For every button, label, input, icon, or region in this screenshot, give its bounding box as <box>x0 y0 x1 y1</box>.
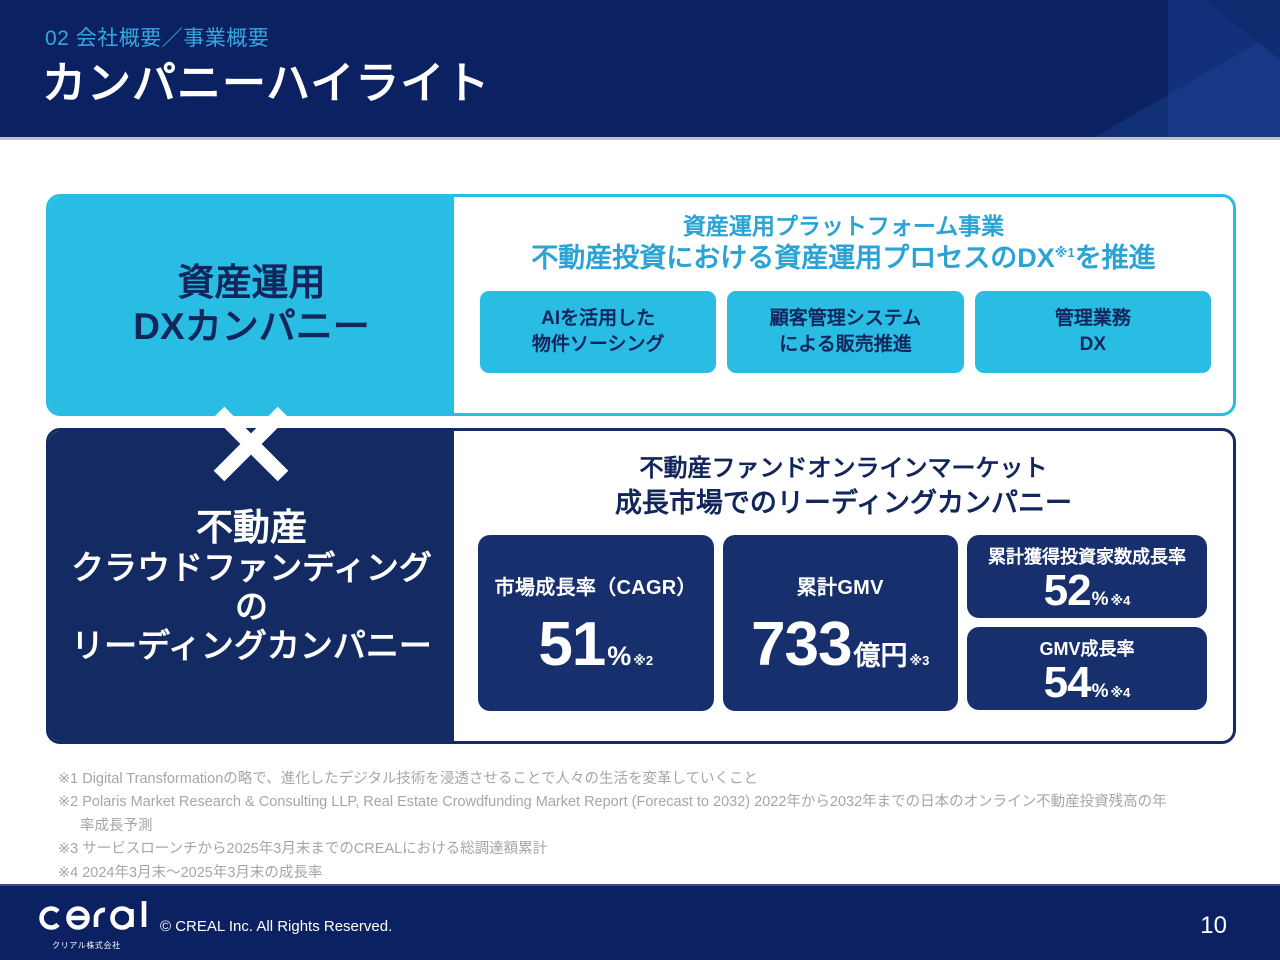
stat-3-value: 52 <box>1044 569 1091 613</box>
creal-logo-subtext: クリアル株式会社 <box>52 940 121 951</box>
crowdfunding-card: 不動産 クラウドファンディング の リーディングカンパニー 不動産ファンドオンラ… <box>46 428 1236 744</box>
footnote-ref-1: ※1 <box>1055 245 1075 260</box>
navy-left-line2: クラウドファンディング <box>71 549 432 588</box>
footer-divider <box>0 884 1280 886</box>
feature-box-management-dx: 管理業務 DX <box>975 291 1211 373</box>
cyan-heading-line2-main: 不動産投資における資産運用プロセスのDX <box>531 243 1055 273</box>
kpi-stat-group: 市場成長率（CAGR） 51 % ※2 累計GMV 733 億円 ※3 累計獲得… <box>454 521 1233 711</box>
stat-2-value: 733 <box>751 614 851 676</box>
section-eyebrow: 02 会社概要／事業概要 <box>45 22 269 52</box>
stat-4-value-row: 54 % ※4 <box>1044 661 1131 705</box>
page-title: カンパニーハイライト <box>42 62 490 106</box>
stat-4-unit: % <box>1092 681 1109 703</box>
cyan-heading-line2: 不動産投資における資産運用プロセスのDX※1を推進 <box>454 241 1233 277</box>
stat-2-unit: 億円 <box>854 634 908 673</box>
navy-left-line4: リーディングカンパニー <box>71 627 432 666</box>
stat-investor-growth-rate: 累計獲得投資家数成長率 52 % ※4 <box>967 535 1207 618</box>
footnote-ref-3: ※3 <box>910 653 930 669</box>
asset-management-panel-label: 資産運用 DXカンパニー <box>49 197 454 413</box>
footnote-ref-4b: ※4 <box>1110 685 1130 701</box>
cyan-left-line2: DXカンパニー <box>133 305 369 349</box>
navy-left-line3: の <box>71 588 432 627</box>
feature-box-crm-sales: 顧客管理システム による販売推進 <box>727 291 963 373</box>
stat-1-value-row: 51 % ※2 <box>538 614 653 676</box>
stat-2-value-row: 733 億円 ※3 <box>751 614 929 676</box>
feature-box-2-line1: 顧客管理システム <box>770 306 921 332</box>
cyan-heading-line1: 資産運用プラットフォーム事業 <box>454 211 1233 241</box>
navy-heading-line1: 不動産ファンドオンラインマーケット <box>454 453 1233 485</box>
feature-box-2-line2: による販売推進 <box>770 332 921 358</box>
stat-4-label: GMV成長率 <box>1039 635 1134 661</box>
navy-heading-line2: 成長市場でのリーディングカンパニー <box>454 485 1233 521</box>
footnote-item-3: ※3 サービスローンチから2025年3月末までのCREALにおける総調達額累計 <box>58 838 1238 861</box>
copyright-text: © CREAL Inc. All Rights Reserved. <box>160 918 392 935</box>
asset-management-card: 資産運用 DXカンパニー 資産運用プラットフォーム事業 不動産投資における資産運… <box>46 194 1236 416</box>
feature-box-ai-sourcing: AIを活用した 物件ソーシング <box>480 291 716 373</box>
footnote-item-2-cont: 率成長予測 <box>58 815 1238 838</box>
footnote-list: ※1 Digital Transformationの略で、進化したデジタル技術を… <box>58 768 1238 885</box>
header-decoration-shape <box>1000 0 1280 137</box>
navy-left-line1: 不動産 <box>71 506 432 550</box>
feature-box-3-line2: DX <box>1055 332 1131 358</box>
stat-4-value: 54 <box>1044 661 1091 705</box>
page-number: 10 <box>1200 912 1227 940</box>
stat-column-growth-rates: 累計獲得投資家数成長率 52 % ※4 GMV成長率 54 % ※4 <box>967 535 1207 711</box>
stat-1-value: 51 <box>538 614 605 676</box>
stat-2-label: 累計GMV <box>797 571 884 600</box>
header-divider <box>0 137 1280 140</box>
feature-box-1-line2: 物件ソーシング <box>532 332 665 358</box>
footnote-ref-4a: ※4 <box>1110 593 1130 609</box>
stat-market-growth-cagr: 市場成長率（CAGR） 51 % ※2 <box>478 535 714 711</box>
stat-1-unit: % <box>607 641 631 672</box>
asset-management-feature-list: AIを活用した 物件ソーシング 顧客管理システム による販売推進 管理業務 DX <box>454 277 1233 373</box>
feature-box-1-line1: AIを活用した <box>532 306 665 332</box>
crowdfunding-panel-content: 不動産ファンドオンラインマーケット 成長市場でのリーディングカンパニー 市場成長… <box>454 431 1233 741</box>
stat-gmv-growth-rate: GMV成長率 54 % ※4 <box>967 627 1207 710</box>
slide-header: 02 会社概要／事業概要 カンパニーハイライト <box>0 0 1280 137</box>
stat-3-value-row: 52 % ※4 <box>1044 569 1131 613</box>
creal-logo <box>34 896 154 943</box>
stat-3-label: 累計獲得投資家数成長率 <box>988 543 1186 569</box>
cyan-heading-line2-tail: を推進 <box>1075 243 1156 273</box>
feature-box-3-line1: 管理業務 <box>1055 306 1131 332</box>
stat-1-label: 市場成長率（CAGR） <box>495 571 697 600</box>
cyan-left-line1: 資産運用 <box>133 261 369 305</box>
asset-management-panel-content: 資産運用プラットフォーム事業 不動産投資における資産運用プロセスのDX※1を推進… <box>454 197 1233 413</box>
footnote-item-4: ※4 2024年3月末〜2025年3月末の成長率 <box>58 862 1238 885</box>
slide-footer: クリアル株式会社 © CREAL Inc. All Rights Reserve… <box>0 884 1280 960</box>
footnote-item-2: ※2 Polaris Market Research & Consulting … <box>58 791 1238 814</box>
footnote-ref-2: ※2 <box>633 653 653 669</box>
stat-cumulative-gmv: 累計GMV 733 億円 ※3 <box>723 535 959 711</box>
stat-3-unit: % <box>1092 589 1109 611</box>
crowdfunding-heading: 不動産ファンドオンラインマーケット 成長市場でのリーディングカンパニー <box>454 431 1233 521</box>
footnote-item-1: ※1 Digital Transformationの略で、進化したデジタル技術を… <box>58 768 1238 791</box>
asset-management-heading: 資産運用プラットフォーム事業 不動産投資における資産運用プロセスのDX※1を推進 <box>454 197 1233 277</box>
crowdfunding-panel-label: 不動産 クラウドファンディング の リーディングカンパニー <box>49 431 454 741</box>
